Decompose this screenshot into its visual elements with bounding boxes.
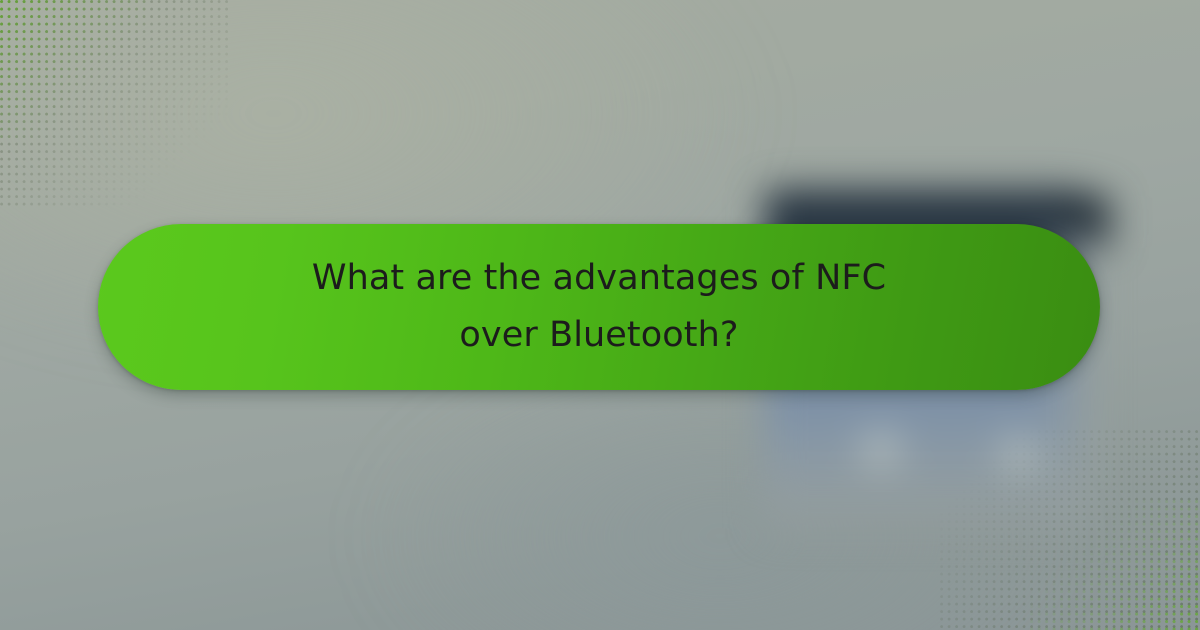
headline-banner: What are the advantages of NFC over Blue… xyxy=(98,224,1100,390)
dot-grid-top-left-accent xyxy=(0,0,150,140)
headline-text: What are the advantages of NFC over Blue… xyxy=(279,250,919,363)
dot-grid-bottom-right-accent xyxy=(1030,500,1200,630)
promo-card: What are the advantages of NFC over Blue… xyxy=(0,0,1200,630)
